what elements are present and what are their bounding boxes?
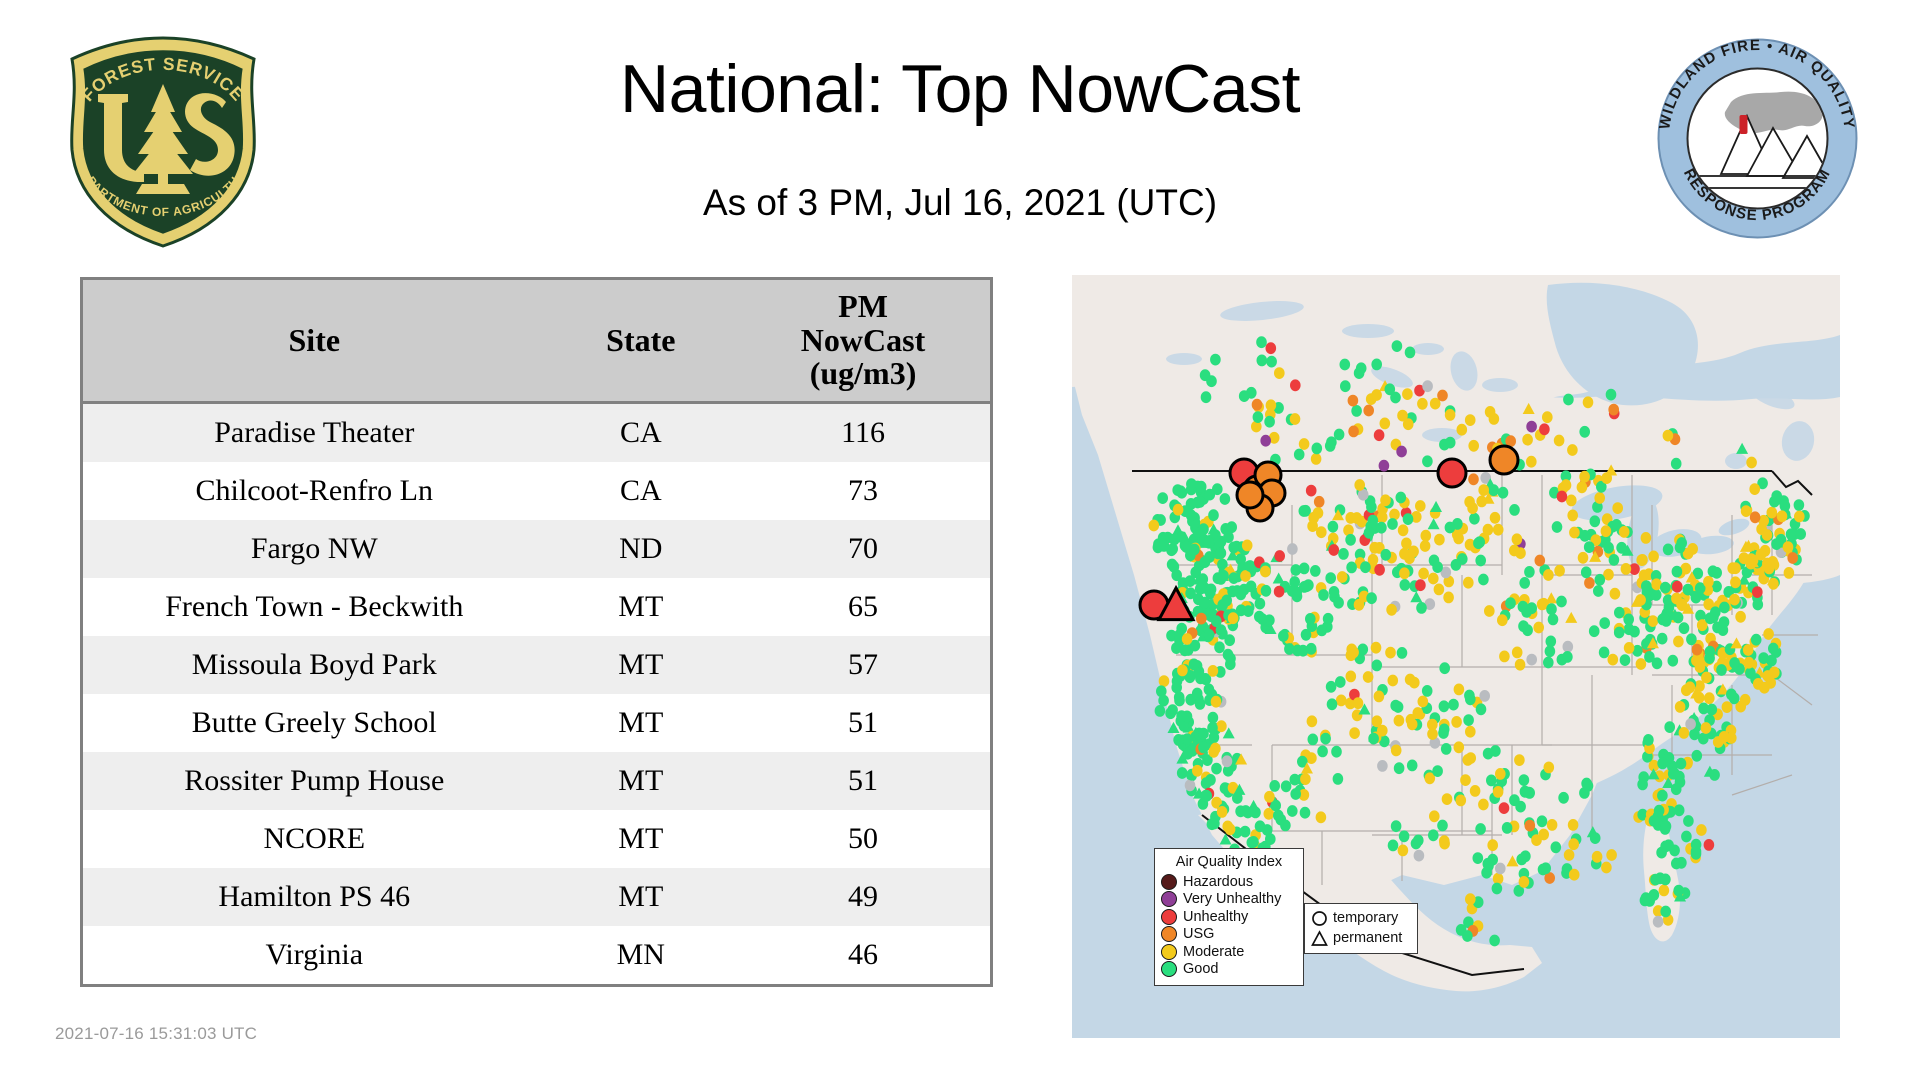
aqi-monitor-dot [1486, 775, 1497, 787]
aqi-monitor-dot [1329, 586, 1340, 598]
aqi-monitor-dot [1331, 746, 1342, 758]
aqi-monitor-dot [1437, 820, 1448, 832]
aqi-monitor-dot [1320, 733, 1331, 745]
aqi-monitor-dot [1156, 685, 1167, 697]
legend-label-permanent: permanent [1333, 930, 1402, 946]
usda-forest-service-shield-logo: FOREST SERVICE DEPARTMENT OF AGRICULTURE [58, 32, 268, 250]
aqi-monitor-dot [1581, 566, 1592, 578]
aqi-monitor-dot [1465, 893, 1476, 905]
aqi-monitor-dot [1439, 835, 1450, 847]
aqi-monitor-dot [1269, 780, 1280, 792]
aqi-monitor-dot [1537, 815, 1548, 827]
aqi-monitor-dot [1676, 537, 1687, 549]
aqi-monitor-dot [1311, 453, 1322, 465]
aqi-monitor-dot [1198, 742, 1209, 754]
aqi-monitor-dot [1753, 678, 1764, 690]
aqi-monitor-dot [1376, 522, 1387, 534]
aqi-monitor-dot [1608, 654, 1619, 666]
aqi-monitor-dot [1606, 389, 1617, 401]
table-row[interactable]: Missoula Boyd ParkMT57 [83, 636, 990, 694]
aqi-monitor-dot [1478, 484, 1489, 496]
aqi-monitor-dot [1328, 521, 1339, 533]
aqi-monitor-dot [1709, 769, 1720, 781]
aqi-monitor-dot [1398, 845, 1409, 857]
aqi-monitor-dot [1629, 626, 1640, 638]
aqi-national-map[interactable]: Air Quality Index HazardousVery Unhealth… [1072, 275, 1840, 1038]
aqi-monitor-dot [1683, 584, 1694, 596]
aqi-monitor-dot [1563, 394, 1574, 406]
aqi-legend-row: Very Unhealthy [1161, 891, 1297, 909]
aqi-monitor-dot [1771, 490, 1782, 502]
aqi-monitor-dot [1563, 641, 1574, 653]
aqi-legend-label: Good [1183, 961, 1218, 977]
aqi-monitor-dot [1767, 507, 1778, 519]
aqi-monitor-dot [1456, 795, 1467, 807]
aqi-monitor-dot [1211, 615, 1222, 627]
aqi-monitor-dot [1177, 665, 1188, 677]
aqi-monitor-dot [1672, 581, 1683, 593]
aqi-monitor-dot [1762, 529, 1773, 541]
aqi-monitor-dot [1366, 592, 1377, 604]
aqi-monitor-dot [1705, 612, 1716, 624]
aqi-monitor-dot [1638, 771, 1649, 783]
aqi-monitor-dot [1407, 718, 1418, 730]
aqi-monitor-dot [1543, 657, 1554, 669]
aqi-monitor-dot [1671, 783, 1682, 795]
state-cell: MN [546, 926, 736, 984]
aqi-monitor-dot [1195, 583, 1206, 595]
aqi-monitor-dot [1400, 579, 1411, 591]
aqi-monitor-dot [1208, 712, 1219, 724]
aqi-monitor-dot [1460, 774, 1471, 786]
aqi-monitor-dot [1448, 699, 1459, 711]
aqi-monitor-dot [1692, 750, 1703, 762]
aqi-monitor-dot [1299, 581, 1310, 593]
aqi-monitor-dot [1326, 681, 1337, 693]
aqi-monitor-dot [1454, 684, 1465, 696]
aqi-monitor-dot [1663, 544, 1674, 556]
aqi-monitor-dot [1278, 630, 1289, 642]
aqi-monitor-dot [1639, 570, 1650, 582]
aqi-category-dot-icon [1161, 961, 1177, 977]
aqi-monitor-dot [1439, 662, 1450, 674]
column-header-site[interactable]: Site [83, 280, 546, 403]
aqi-monitor-dot [1340, 380, 1351, 392]
aqi-monitor-dot [1380, 494, 1391, 506]
aqi-monitor-dot [1564, 849, 1575, 861]
aqi-monitor-dot [1579, 426, 1590, 438]
aqi-monitor-dot [1149, 520, 1160, 532]
aqi-monitor-dot [1374, 564, 1385, 576]
aqi-monitor-dot [1537, 599, 1548, 611]
aqi-monitor-dot [1391, 820, 1402, 832]
aqi-monitor-dot [1401, 538, 1412, 550]
aqi-monitor-dot [1689, 728, 1700, 740]
monitor-type-legend: temporary permanent [1304, 903, 1418, 954]
aqi-monitor-dot [1592, 851, 1603, 863]
aqi-monitor-dot [1743, 644, 1754, 656]
aqi-monitor-dot [1398, 524, 1409, 536]
aqi-monitor-dot [1316, 811, 1327, 823]
aqi-monitor-dot [1312, 443, 1323, 455]
aqi-monitor-dot [1232, 792, 1243, 804]
aqi-monitor-dot [1566, 495, 1577, 507]
aqi-monitor-dot [1769, 667, 1780, 679]
aqi-monitor-dot [1299, 438, 1310, 450]
aqi-monitor-dot [1469, 513, 1480, 525]
column-header-state-label: State [606, 322, 675, 358]
column-header-site-label: Site [289, 322, 341, 358]
aqi-monitor-dot [1659, 885, 1670, 897]
aqi-monitor-dot [1253, 411, 1264, 423]
aqi-monitor-dot [1422, 380, 1433, 392]
aqi-monitor-dot [1185, 779, 1196, 791]
aqi-monitor-dot [1280, 820, 1291, 832]
aqi-monitor-dot [1525, 820, 1536, 832]
aqi-monitor-dot [1217, 806, 1228, 818]
aqi-monitor-dot [1579, 471, 1590, 483]
aqi-monitor-dot [1558, 792, 1569, 804]
aqi-monitor-dot [1652, 657, 1663, 669]
aqi-monitor-dot [1206, 375, 1217, 387]
aqi-monitor-dot [1289, 576, 1300, 588]
site-cell: NCORE [83, 810, 546, 868]
aqi-legend-row: Hazardous [1161, 873, 1297, 891]
aqi-monitor-dot [1515, 801, 1526, 813]
aqi-monitor-dot [1454, 741, 1465, 753]
aqi-monitor-dot [1409, 677, 1420, 689]
aqi-monitor-dot [1704, 839, 1715, 851]
aqi-monitor-dot [1391, 745, 1402, 757]
aqi-monitor-dot [1205, 489, 1216, 501]
table-row[interactable]: VirginiaMN46 [83, 926, 990, 984]
aqi-monitor-dot [1308, 734, 1319, 746]
wfaqrp-seal-icon: WILDLAND FIRE • AIR QUALITY RESPONSE PRO… [1655, 36, 1860, 241]
flame-marker [1740, 115, 1748, 134]
aqi-monitor-dot [1364, 527, 1375, 539]
aqi-monitor-dot [1385, 383, 1396, 395]
aqi-monitor-dot [1274, 550, 1285, 562]
aqi-monitor-dot [1547, 819, 1558, 831]
aqi-legend-row: Good [1161, 961, 1297, 979]
aqi-monitor-dot [1465, 414, 1476, 426]
aqi-monitor-dot [1498, 487, 1509, 499]
aqi-monitor-dot [1427, 728, 1438, 740]
aqi-monitor-dot [1548, 614, 1559, 626]
table-row[interactable]: Hamilton PS 46MT49 [83, 868, 990, 926]
state-cell: MT [546, 810, 736, 868]
value-cell: 65 [736, 578, 990, 636]
aqi-monitor-dot [1543, 569, 1554, 581]
aqi-monitor-dot [1608, 404, 1619, 416]
aqi-monitor-dot [1379, 460, 1390, 472]
aqi-monitor-dot [1671, 593, 1682, 605]
aqi-monitor-dot [1445, 409, 1456, 421]
aqi-monitor-dot [1228, 612, 1239, 624]
table-header-row: Site State PM NowCast (ug/m3) [83, 280, 990, 403]
aqi-monitor-dot [1522, 434, 1533, 446]
aqi-monitor-dot [1380, 418, 1391, 430]
aqi-monitor-dot [1490, 512, 1501, 524]
aqi-monitor-dot [1490, 745, 1501, 757]
aqi-monitor-dot [1784, 567, 1795, 579]
aqi-monitor-dot [1545, 645, 1556, 657]
aqi-monitor-dot [1567, 444, 1578, 456]
circle-icon [1311, 910, 1328, 927]
aqi-category-dot-icon [1161, 874, 1177, 890]
aqi-monitor-dot [1681, 831, 1692, 843]
aqi-monitor-dot [1451, 559, 1462, 571]
aqi-monitor-dot [1399, 830, 1410, 842]
aqi-monitor-dot [1664, 602, 1675, 614]
aqi-monitor-dot [1290, 788, 1301, 800]
aqi-monitor-dot [1281, 780, 1292, 792]
aqi-monitor-dot [1371, 642, 1382, 654]
aqi-monitor-dot [1695, 661, 1706, 673]
aqi-monitor-dot [1599, 647, 1610, 659]
aqi-monitor-dot [1473, 852, 1484, 864]
aqi-legend-row: Unhealthy [1161, 908, 1297, 926]
aqi-monitor-dot [1746, 457, 1757, 469]
table-row[interactable]: NCOREMT50 [83, 810, 990, 868]
aqi-monitor-dot [1599, 617, 1610, 629]
aqi-monitor-dot [1266, 342, 1277, 354]
aqi-monitor-dot [1544, 762, 1555, 774]
aqi-monitor-dot [1590, 515, 1601, 527]
aqi-monitor-dot [1327, 698, 1338, 710]
aqi-monitor-dot [1493, 524, 1504, 536]
aqi-monitor-dot [1470, 785, 1481, 797]
state-cell: MT [546, 694, 736, 752]
aqi-monitor-dot [1519, 876, 1530, 888]
aqi-monitor-dot [1372, 715, 1383, 727]
table-row[interactable]: Butte Greely SchoolMT51 [83, 694, 990, 752]
aqi-monitor-dot [1429, 810, 1440, 822]
aqi-monitor-dot [1683, 815, 1694, 827]
aqi-monitor-dot [1704, 692, 1715, 704]
site-cell: Hamilton PS 46 [83, 868, 546, 926]
top-nowcast-table: Site State PM NowCast (ug/m3) Paradise T… [83, 280, 990, 984]
column-header-pm-line2: NowCast [736, 324, 990, 358]
top-site-marker-circle[interactable] [1438, 459, 1466, 487]
aqi-monitor-dot [1371, 359, 1382, 371]
aqi-monitor-dot [1468, 440, 1479, 452]
aqi-monitor-dot [1713, 736, 1724, 748]
aqi-monitor-dot [1540, 862, 1551, 874]
aqi-monitor-dot [1337, 571, 1348, 583]
aqi-monitor-dot [1767, 556, 1778, 568]
aqi-monitor-dot [1554, 565, 1565, 577]
aqi-monitor-dot [1167, 559, 1178, 571]
state-cell: ND [546, 520, 736, 578]
aqi-monitor-dot [1243, 605, 1254, 617]
aqi-monitor-dot [1260, 566, 1271, 578]
aqi-monitor-dot [1641, 892, 1652, 904]
value-cell: 70 [736, 520, 990, 578]
aqi-monitor-dot [1310, 565, 1321, 577]
aqi-monitor-dot [1526, 456, 1537, 468]
value-cell: 116 [736, 403, 990, 463]
aqi-monitor-dot [1522, 624, 1533, 636]
aqi-monitor-dot [1314, 496, 1325, 508]
aqi-monitor-dot [1744, 657, 1755, 669]
table-row[interactable]: Rossiter Pump HouseMT51 [83, 752, 990, 810]
aqi-monitor-dot [1768, 643, 1779, 655]
aqi-monitor-dot [1246, 581, 1257, 593]
aqi-monitor-dot [1177, 767, 1188, 779]
aqi-monitor-dot [1758, 652, 1769, 664]
aqi-monitor-dot [1181, 541, 1192, 553]
site-cell: Paradise Theater [83, 403, 546, 463]
aqi-monitor-dot [1198, 523, 1209, 535]
table-row[interactable]: French Town - BeckwithMT65 [83, 578, 990, 636]
aqi-monitor-dot [1687, 543, 1698, 555]
aqi-monitor-dot [1463, 754, 1474, 766]
aqi-monitor-dot [1403, 513, 1414, 525]
aqi-monitor-dot [1445, 522, 1456, 534]
aqi-monitor-dot [1372, 660, 1383, 672]
aqi-monitor-dot [1173, 734, 1184, 746]
aqi-monitor-dot [1499, 802, 1510, 814]
aqi-monitor-dot [1484, 605, 1495, 617]
aqi-legend-label: Hazardous [1183, 874, 1253, 890]
aqi-monitor-dot [1221, 595, 1232, 607]
table-row[interactable]: Fargo NWND70 [83, 520, 990, 578]
aqi-monitor-dot [1266, 356, 1277, 368]
aqi-monitor-dot [1182, 633, 1193, 645]
top-site-marker-circle[interactable] [1490, 446, 1518, 474]
aqi-monitor-dot [1399, 567, 1410, 579]
aqi-monitor-dot [1220, 493, 1231, 505]
aqi-monitor-dot [1648, 551, 1659, 563]
aqi-monitor-dot [1348, 395, 1359, 407]
aqi-monitor-dot [1546, 603, 1557, 615]
aqi-monitor-dot [1567, 510, 1578, 522]
aqi-monitor-dot [1216, 720, 1227, 732]
aqi-monitor-dot [1594, 492, 1605, 504]
column-header-pm-nowcast[interactable]: PM NowCast (ug/m3) [736, 280, 990, 403]
site-cell: Missoula Boyd Park [83, 636, 546, 694]
aqi-monitor-dot [1569, 869, 1580, 881]
value-cell: 50 [736, 810, 990, 868]
aqi-monitor-dot [1371, 389, 1382, 401]
state-cell: CA [546, 462, 736, 520]
aqi-monitor-dot [1287, 805, 1298, 817]
aqi-monitor-dot [1624, 642, 1635, 654]
aqi-monitor-dot [1703, 576, 1714, 588]
aqi-monitor-dot [1313, 507, 1324, 519]
aqi-monitor-dot [1417, 398, 1428, 410]
aqi-monitor-dot [1239, 390, 1250, 402]
aqi-monitor-dot [1654, 805, 1665, 817]
aqi-monitor-dot [1224, 634, 1235, 646]
aqi-monitor-dot [1298, 645, 1309, 657]
aqi-monitor-dot [1369, 542, 1380, 554]
aqi-monitor-dot [1204, 537, 1215, 549]
state-cell: MT [546, 578, 736, 636]
aqi-monitor-dot [1730, 576, 1741, 588]
aqi-monitor-dot [1264, 791, 1275, 803]
aqi-monitor-dot [1478, 574, 1489, 586]
aqi-monitor-dot [1561, 479, 1572, 491]
aqi-monitor-dot [1676, 857, 1687, 869]
aqi-monitor-dot [1441, 743, 1452, 755]
aqi-monitor-dot [1155, 705, 1166, 717]
aqi-monitor-dot [1497, 614, 1508, 626]
aqi-monitor-dot [1434, 584, 1445, 596]
aqi-monitor-dot [1663, 430, 1674, 442]
top-site-marker-circle[interactable] [1237, 482, 1263, 508]
table-row[interactable]: Chilcoot-Renfro LnCA73 [83, 462, 990, 520]
aqi-monitor-dot [1260, 435, 1271, 447]
aqi-monitor-dot [1590, 832, 1601, 844]
aqi-monitor-dot [1307, 715, 1318, 727]
aqi-monitor-dot [1657, 790, 1668, 802]
aqi-monitor-dot [1681, 684, 1692, 696]
table-row[interactable]: Paradise TheaterCA116 [83, 403, 990, 463]
aqi-monitor-dot [1396, 492, 1407, 504]
aqi-monitor-dot [1413, 707, 1424, 719]
aqi-monitor-dot [1746, 558, 1757, 570]
aqi-monitor-dot [1351, 405, 1362, 417]
aqi-monitor-dot [1551, 841, 1562, 853]
aqi-monitor-dot [1386, 604, 1397, 616]
aqi-monitor-dot [1198, 728, 1209, 740]
column-header-pm-line1: PM [736, 290, 990, 324]
column-header-state[interactable]: State [546, 280, 736, 403]
aqi-monitor-dot [1691, 848, 1702, 860]
aqi-monitor-dot [1256, 336, 1267, 348]
value-cell: 51 [736, 752, 990, 810]
state-cell: MT [546, 752, 736, 810]
aqi-monitor-dot [1363, 405, 1374, 417]
aqi-monitor-dot [1619, 526, 1630, 538]
aqi-monitor-dot [1265, 833, 1276, 845]
aqi-monitor-dot [1595, 574, 1606, 586]
site-cell: Rossiter Pump House [83, 752, 546, 810]
aqi-monitor-dot [1416, 602, 1427, 614]
aqi-monitor-dot [1257, 613, 1268, 625]
forest-service-shield-icon: FOREST SERVICE DEPARTMENT OF AGRICULTURE [58, 32, 268, 250]
aqi-monitor-dot [1211, 696, 1222, 708]
aqi-monitor-dot [1722, 701, 1733, 713]
aqi-monitor-dot [1660, 582, 1671, 594]
aqi-monitor-dot [1317, 625, 1328, 637]
aqi-monitor-dot [1274, 367, 1285, 379]
aqi-monitor-dot [1777, 510, 1788, 522]
aqi-monitor-dot [1612, 502, 1623, 514]
aqi-monitor-dot [1493, 786, 1504, 798]
aqi-monitor-dot [1186, 478, 1197, 490]
aqi-monitor-dot [1616, 542, 1627, 554]
aqi-monitor-dot [1186, 509, 1197, 521]
aqi-monitor-dot [1185, 587, 1196, 599]
aqi-monitor-dot [1729, 657, 1740, 669]
aqi-monitor-dot [1557, 491, 1568, 503]
legend-row-permanent: permanent [1311, 928, 1411, 948]
aqi-monitor-dot [1660, 874, 1671, 886]
aqi-monitor-dot [1415, 500, 1426, 512]
aqi-monitor-dot [1610, 588, 1621, 600]
aqi-monitor-dot [1195, 496, 1206, 508]
aqi-monitor-dot [1374, 691, 1385, 703]
aqi-monitor-dot [1333, 773, 1344, 785]
aqi-monitor-dot [1437, 390, 1448, 402]
aqi-monitor-dot [1363, 671, 1374, 683]
aqi-monitor-dot [1526, 421, 1537, 433]
aqi-monitor-dot [1531, 834, 1542, 846]
aqi-monitor-dot [1581, 778, 1592, 790]
